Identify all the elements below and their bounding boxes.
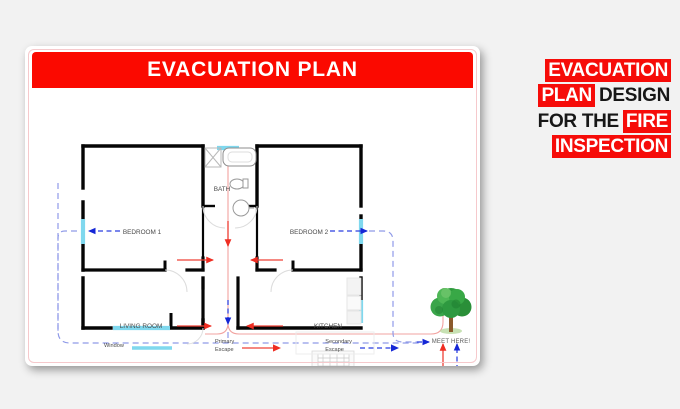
headline-segment-2-0: FOR THE bbox=[538, 111, 624, 132]
secondary-route-right bbox=[369, 231, 429, 342]
room-label-bath: BATH bbox=[214, 186, 231, 193]
plan-windows bbox=[83, 148, 361, 328]
legend-item-secondary-escape: Secondary Escape bbox=[325, 339, 401, 354]
room-label-living-room: LIVING ROOM bbox=[120, 323, 163, 330]
headline-line-0: EVACUATION bbox=[500, 58, 670, 83]
primary-escape-arrow-icon bbox=[241, 341, 283, 353]
plan-title: EVACUATION PLAN bbox=[147, 58, 358, 82]
legend-label-primary-escape: Primary Escape bbox=[215, 339, 234, 354]
legend: Window Primary Escape Secondary Esc bbox=[25, 332, 480, 362]
door-swings bbox=[165, 206, 293, 344]
plan-walls bbox=[83, 146, 361, 328]
headline-line-3: INSPECTION bbox=[500, 134, 670, 159]
headline-segment-3-0: INSPECTION bbox=[553, 136, 670, 157]
floor-plan: BEDROOM 1 BATH BEDROOM 2 LIVING ROOM KIT… bbox=[25, 88, 480, 366]
legend-label-secondary-escape: Secondary Escape bbox=[325, 339, 352, 354]
poster-headline: EVACUATIONPLAN DESIGNFOR THE FIREINSPECT… bbox=[500, 58, 670, 159]
poster-canvas: EVACUATION PLAN bbox=[0, 0, 680, 409]
room-label-bedroom-2: BEDROOM 2 bbox=[290, 229, 329, 236]
primary-escape-route bbox=[83, 148, 443, 338]
room-label-bedroom-1: BEDROOM 1 bbox=[123, 229, 162, 236]
plan-banner: EVACUATION PLAN bbox=[32, 52, 473, 88]
room-labels: BEDROOM 1 BATH BEDROOM 2 LIVING ROOM KIT… bbox=[120, 186, 343, 330]
headline-line-1: PLAN DESIGN bbox=[500, 83, 670, 108]
legend-item-window: Window bbox=[104, 341, 173, 353]
headline-segment-1-0: PLAN bbox=[539, 85, 594, 106]
window-swatch-icon bbox=[131, 341, 173, 353]
legend-label-window: Window bbox=[104, 343, 124, 351]
wall-stubs bbox=[111, 243, 215, 328]
secondary-escape-arrow-icon bbox=[359, 341, 401, 353]
headline-segment-2-1: FIRE bbox=[624, 111, 670, 132]
room-label-kitchen: KITCHEN bbox=[314, 323, 342, 330]
tree-icon bbox=[426, 284, 476, 336]
interior-divider-walls bbox=[83, 258, 361, 328]
headline-segment-1-1: DESIGN bbox=[594, 85, 670, 106]
headline-line-2: FOR THE FIRE bbox=[500, 109, 670, 134]
legend-item-primary-escape: Primary Escape bbox=[215, 339, 283, 354]
headline-segment-0-0: EVACUATION bbox=[546, 60, 670, 81]
secondary-route-left-connector bbox=[58, 231, 77, 331]
evacuation-plan-card: EVACUATION PLAN bbox=[25, 46, 480, 366]
